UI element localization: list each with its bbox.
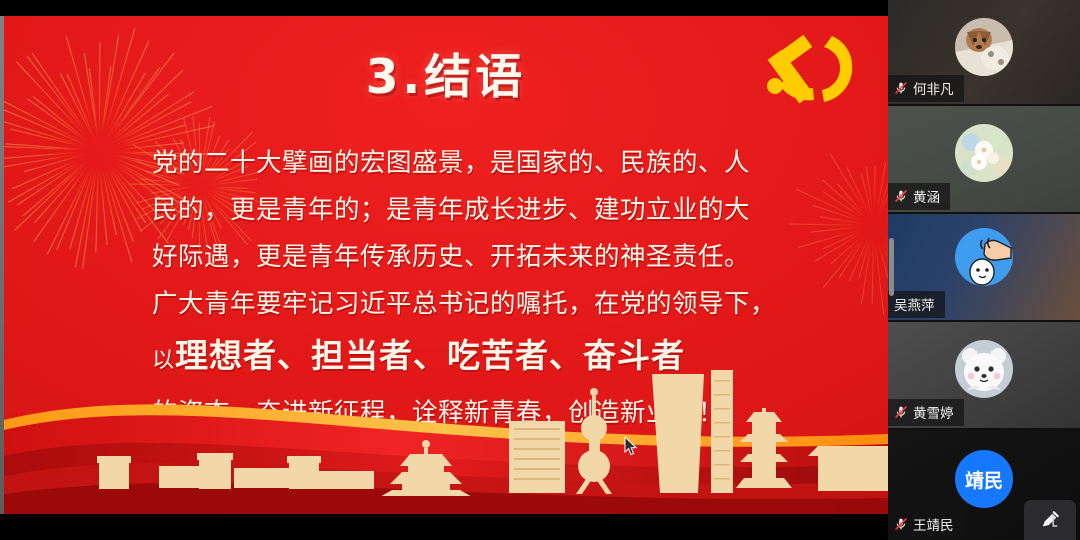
participant-name-tag: 黄雪婷 [888, 399, 964, 426]
body-line: 党的二十大擘画的宏图盛景，是国家的、民族的、人 [152, 140, 782, 187]
participant-name-tag: 吴燕萍 [888, 291, 945, 318]
scrollbar-thumb[interactable] [889, 238, 894, 296]
meeting-screen-share-window: 3.结语 党的二十大擘画的宏图盛景，是国家的、民族的、人 民的，更是青年的；是青… [0, 0, 1080, 540]
microphone-muted-icon [894, 517, 908, 531]
body-line: 广大青年要牢记习近平总书记的嘱托，在党的领导下， [152, 281, 782, 328]
firework-burst-icon [784, 136, 888, 316]
participant-name-tag: 黄涵 [888, 183, 950, 210]
participant-sidebar[interactable]: 何非凡 [888, 0, 1080, 540]
participant-name-tag: 王靖民 [888, 511, 964, 538]
body-line: 民的，更是青年的；是青年成长进步、建功立业的大 [152, 187, 782, 234]
flower-photo-avatar [955, 124, 1013, 182]
cartoon-hand-avatar [955, 228, 1013, 286]
pencil-annotate-icon[interactable] [1024, 500, 1076, 540]
shared-content-region[interactable]: 3.结语 党的二十大擘画的宏图盛景，是国家的、民族的、人 民的，更是青年的；是青… [0, 0, 888, 540]
participant-tile[interactable]: 黄涵 [888, 106, 1080, 212]
participant-name-tag: 何非凡 [888, 75, 964, 102]
city-skyline-icon [4, 366, 888, 496]
avatar-initials: 靖民 [955, 450, 1013, 508]
microphone-muted-icon [894, 405, 908, 419]
initials-avatar: 靖民 [955, 450, 1013, 508]
participant-name: 黄涵 [913, 186, 940, 206]
dog-photo-avatar [955, 18, 1013, 76]
participant-name: 何非凡 [913, 78, 954, 98]
presentation-slide: 3.结语 党的二十大擘画的宏图盛景，是国家的、民族的、人 民的，更是青年的；是青… [4, 16, 888, 514]
participant-name: 吴燕萍 [894, 294, 935, 314]
participant-tile[interactable]: 吴燕萍 [888, 214, 1080, 320]
microphone-muted-icon [894, 189, 908, 203]
white-bear-avatar [955, 340, 1013, 398]
vertical-scrollbar[interactable] [888, 0, 894, 540]
participant-name: 黄雪婷 [913, 402, 954, 422]
slide-title: 3.结语 [4, 38, 888, 107]
participant-tile[interactable]: 何非凡 [888, 0, 1080, 104]
mouse-pointer-icon [624, 436, 638, 456]
participant-tile[interactable]: 黄雪婷 [888, 322, 1080, 428]
participant-name: 王靖民 [913, 514, 954, 534]
microphone-muted-icon [894, 81, 908, 95]
body-line: 好际遇，更是青年传承历史、开拓未来的神圣责任。 [152, 234, 782, 281]
